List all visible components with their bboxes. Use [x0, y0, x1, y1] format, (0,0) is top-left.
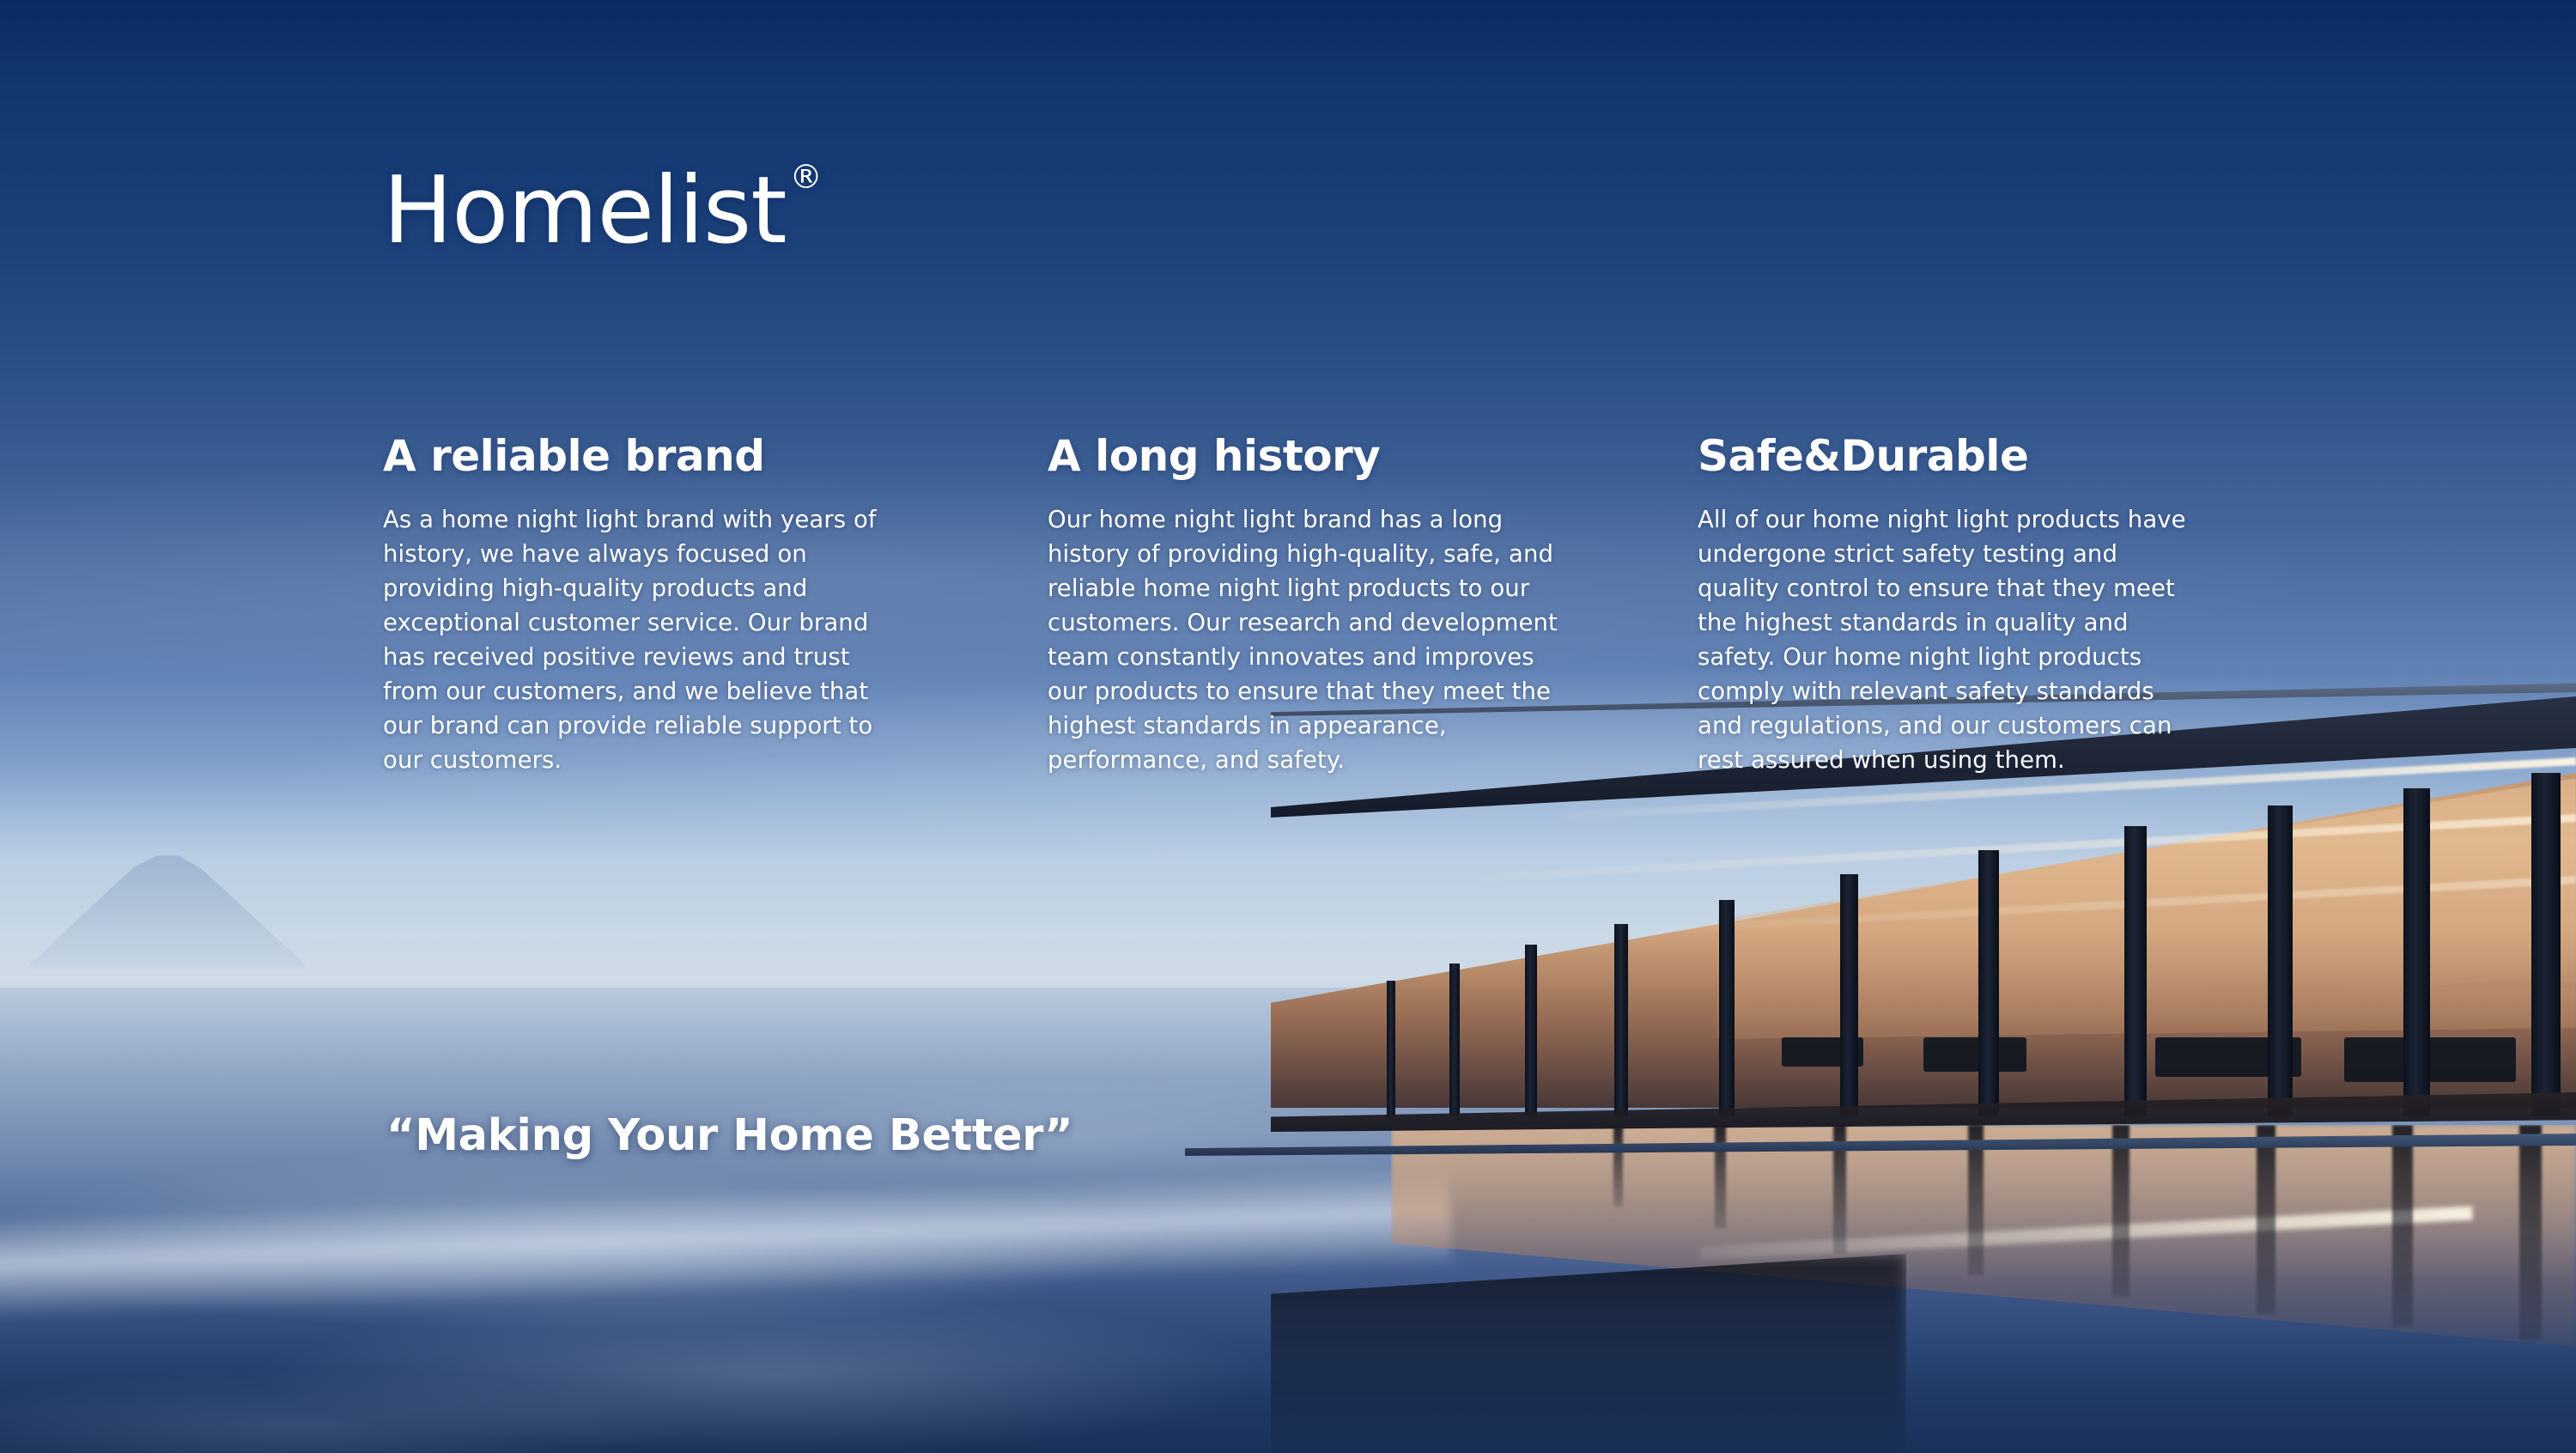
- feature-heading: A long history: [1048, 434, 1563, 479]
- brand-logo: Homelist®: [383, 165, 818, 258]
- feature-body: As a home night light brand with years o…: [383, 502, 890, 777]
- feature-column-long-history: A long history Our home night light bran…: [1048, 434, 1563, 777]
- feature-column-reliable-brand: A reliable brand As a home night light b…: [383, 434, 890, 777]
- registered-trademark-icon: ®: [790, 158, 822, 196]
- feature-heading: Safe&Durable: [1698, 434, 2187, 479]
- content-layer: Homelist® A reliable brand As a home nig…: [0, 0, 2576, 1453]
- feature-column-safe-durable: Safe&Durable All of our home night light…: [1698, 434, 2187, 777]
- brand-tagline: “Making Your Home Better”: [386, 1110, 1072, 1161]
- brand-name: Homelist: [383, 157, 787, 264]
- feature-heading: A reliable brand: [383, 434, 890, 479]
- feature-body: Our home night light brand has a long hi…: [1048, 502, 1563, 777]
- feature-body: All of our home night light products hav…: [1698, 502, 2187, 777]
